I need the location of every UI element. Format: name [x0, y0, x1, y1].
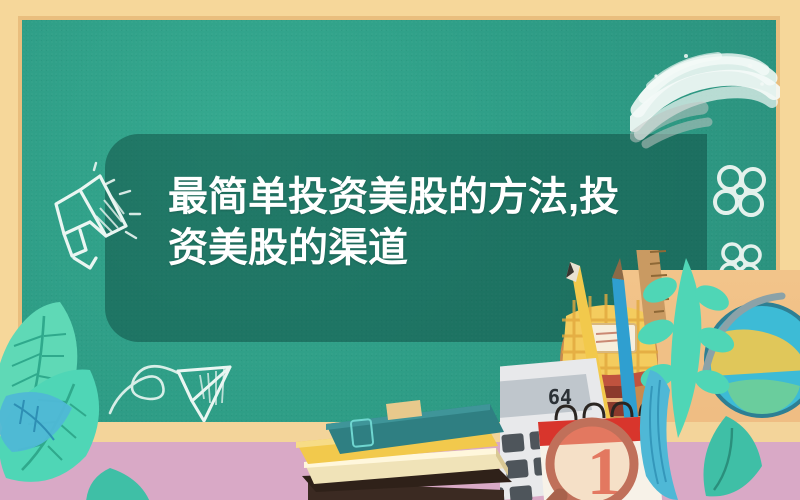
page-title-line-1: 最简单投资美股的方法,投: [168, 172, 638, 223]
desk-objects-group: 64 AC: [500, 250, 800, 500]
flower-icon: [706, 158, 776, 228]
page-title-line-2: 资美股的渠道: [168, 223, 638, 274]
eraser-smear: [630, 40, 780, 155]
foliage-left: [0, 292, 220, 500]
stacked-books: [290, 390, 530, 500]
globe-illustration: [706, 296, 800, 416]
cover-image-stage: 最简单投资美股的方法,投 资美股的渠道: [0, 0, 800, 500]
page-title: 最简单投资美股的方法,投 资美股的渠道: [168, 172, 638, 274]
megaphone-icon: [34, 160, 154, 280]
